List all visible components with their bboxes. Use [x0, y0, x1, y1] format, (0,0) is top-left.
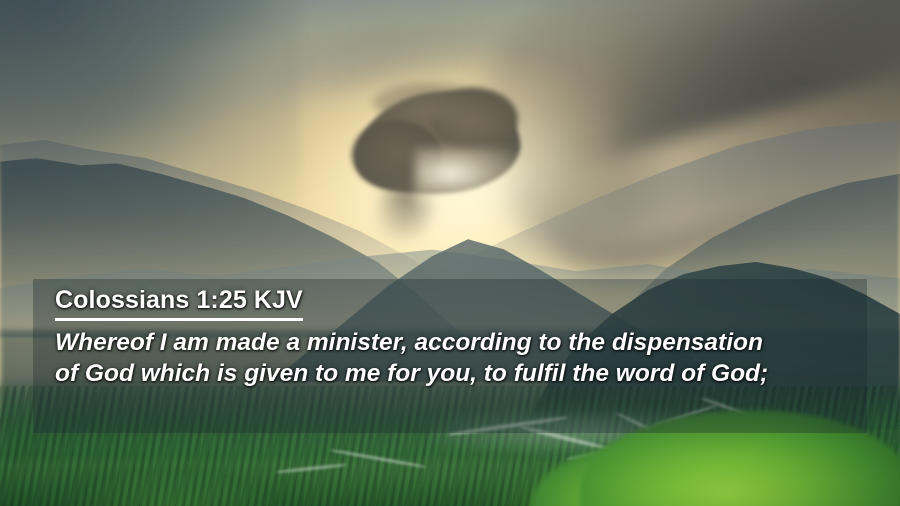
central-cloud-top	[372, 82, 492, 122]
verse-reference: Colossians 1:25 KJV	[55, 287, 303, 321]
verse-image-canvas: Colossians 1:25 KJV Whereof I am made a …	[0, 0, 900, 506]
road-strand-7	[276, 463, 346, 473]
central-cloud-rim-light	[415, 148, 535, 212]
verse-text-overlay: Colossians 1:25 KJV Whereof I am made a …	[33, 279, 867, 433]
verse-text: Whereof I am made a minister, according …	[55, 327, 775, 389]
